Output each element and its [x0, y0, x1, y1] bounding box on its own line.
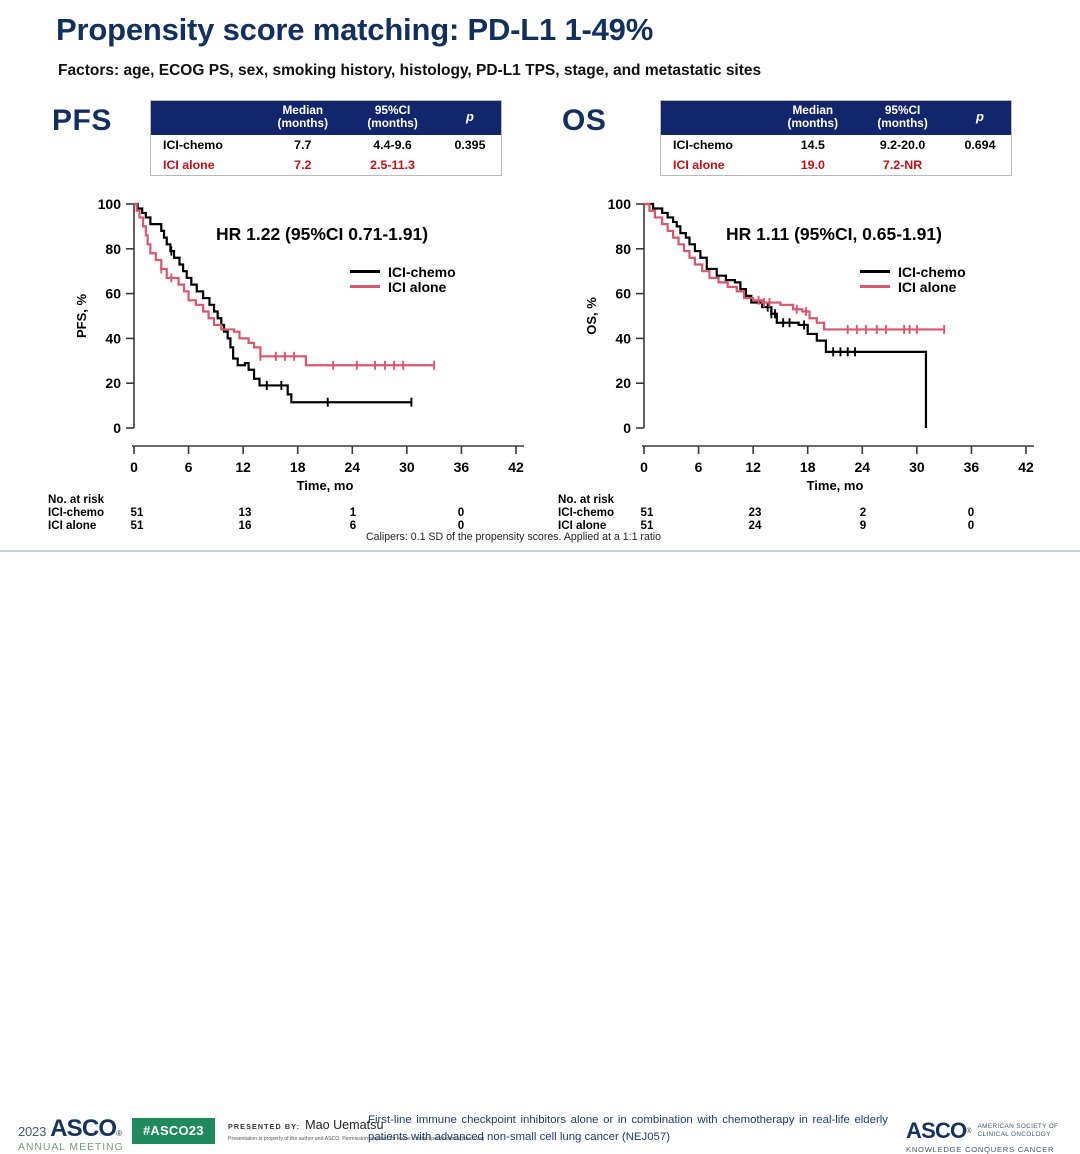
at-risk-value: 23	[742, 506, 768, 519]
panel-label-os: OS	[562, 104, 606, 138]
society-name-line2: CLINICAL ONCOLOGY	[978, 1131, 1051, 1138]
legend-swatch-icon	[860, 285, 890, 288]
cell-median: 19.0	[769, 155, 856, 175]
legend-item-chemo: ICI-chemo	[350, 264, 456, 279]
cell-median: 7.7	[259, 135, 346, 155]
hashtag-badge[interactable]: #ASCO23	[132, 1118, 215, 1144]
table-header-row: Median (months) 95%CI (months) p	[151, 101, 502, 136]
society-logo-top: ASCO ® AMERICAN SOCIETY OF CLINICAL ONCO…	[906, 1118, 1058, 1144]
at-risk-value: 13	[232, 506, 258, 519]
at-risk-value: 2	[850, 506, 876, 519]
at-risk-value: 9	[850, 519, 876, 532]
col-header-name	[151, 101, 260, 136]
cell-pvalue: 0.395	[439, 135, 502, 155]
svg-text:60: 60	[615, 286, 631, 302]
at-risk-title: No. at risk	[552, 493, 1042, 506]
row-label: ICI-chemo	[661, 135, 770, 155]
svg-text:Time, mo: Time, mo	[297, 478, 354, 492]
at-risk-value: 0	[958, 506, 984, 519]
svg-text:100: 100	[608, 196, 632, 212]
svg-text:0: 0	[130, 459, 138, 475]
asco-society-logo: ASCO ® AMERICAN SOCIETY OF CLINICAL ONCO…	[906, 1118, 1058, 1154]
svg-text:40: 40	[105, 330, 121, 346]
table-header-row: Median (months) 95%CI (months) p	[661, 101, 1012, 136]
col-header-pvalue: p	[949, 101, 1012, 136]
at-risk-value: 51	[124, 506, 150, 519]
table-row: ICI-chemo 7.7 4.4-9.6 0.395	[151, 135, 502, 155]
svg-text:18: 18	[800, 459, 816, 475]
at-risk-table-pfs: No. at risk ICI-chemo 51 13 1 0 ICI alon…	[42, 493, 532, 532]
cell-pvalue	[439, 155, 502, 175]
cell-ci: 4.4-9.6	[346, 135, 439, 155]
svg-text:100: 100	[98, 196, 122, 212]
col-header-ci: 95%CI (months)	[346, 101, 439, 136]
svg-text:30: 30	[909, 459, 925, 475]
registered-trademark-icon: ®	[116, 1129, 122, 1138]
at-risk-value: 1	[340, 506, 366, 519]
svg-text:Time, mo: Time, mo	[807, 478, 864, 492]
logo-top-line: 2023 ASCO ®	[18, 1115, 124, 1143]
row-label: ICI-chemo	[151, 135, 260, 155]
cell-ci: 7.2-NR	[856, 155, 949, 175]
svg-text:60: 60	[105, 286, 121, 302]
cell-median: 14.5	[769, 135, 856, 155]
presented-by-label: PRESENTED BY:	[228, 1122, 300, 1131]
svg-text:OS, %: OS, %	[584, 297, 599, 335]
at-risk-table-os: No. at risk ICI-chemo 51 23 2 0 ICI alon…	[552, 493, 1042, 532]
svg-text:12: 12	[745, 459, 761, 475]
logo-wordmark: ASCO	[50, 1115, 116, 1143]
row-label: ICI alone	[151, 155, 260, 175]
legend-label-alone: ICI alone	[898, 279, 956, 295]
row-label: ICI alone	[661, 155, 770, 175]
at-risk-row-chemo: ICI-chemo 51 13 1 0	[42, 506, 532, 519]
presenter-block: PRESENTED BY: Mao Uematsu Presentation i…	[228, 1118, 360, 1142]
at-risk-value: 16	[232, 519, 258, 532]
legend-swatch-icon	[350, 270, 380, 273]
table-row: ICI alone 7.2 2.5-11.3	[151, 155, 502, 175]
registered-trademark-icon: ®	[966, 1128, 971, 1135]
slide-footer: 2023 ASCO ® ANNUAL MEETING #ASCO23 PRESE…	[0, 552, 1080, 608]
svg-text:42: 42	[1018, 459, 1034, 475]
slide-subtitle: Factors: age, ECOG PS, sex, smoking hist…	[58, 62, 761, 80]
permission-note: Presentation is property of the author a…	[228, 1136, 360, 1142]
svg-text:18: 18	[290, 459, 306, 475]
svg-text:36: 36	[964, 459, 980, 475]
at-risk-label: ICI alone	[48, 519, 96, 532]
chart-legend-os: ICI-chemo ICI alone	[860, 264, 966, 294]
svg-text:PFS, %: PFS, %	[74, 294, 89, 339]
panel-os: OS Median (months) 95%CI (months) p ICI-…	[540, 96, 1040, 546]
logo-subtitle: ANNUAL MEETING	[18, 1141, 124, 1153]
society-name: AMERICAN SOCIETY OF CLINICAL ONCOLOGY	[978, 1123, 1059, 1139]
society-tagline: KNOWLEDGE CONQUERS CANCER	[906, 1145, 1058, 1154]
svg-text:0: 0	[640, 459, 648, 475]
svg-text:6: 6	[185, 459, 193, 475]
cell-median: 7.2	[259, 155, 346, 175]
at-risk-value: 6	[340, 519, 366, 532]
svg-text:0: 0	[623, 420, 631, 436]
col-header-median: Median (months)	[769, 101, 856, 136]
legend-label-alone: ICI alone	[388, 279, 446, 295]
svg-text:20: 20	[615, 375, 631, 391]
study-title: First-line immune checkpoint inhibitors …	[368, 1112, 888, 1145]
svg-text:24: 24	[854, 459, 870, 475]
svg-text:24: 24	[344, 459, 360, 475]
svg-text:80: 80	[105, 241, 121, 257]
col-header-ci: 95%CI (months)	[856, 101, 949, 136]
legend-label-chemo: ICI-chemo	[898, 264, 966, 280]
at-risk-label: ICI-chemo	[558, 506, 614, 519]
cell-pvalue: 0.694	[949, 135, 1012, 155]
legend-item-alone: ICI alone	[860, 279, 966, 294]
at-risk-label: ICI-chemo	[48, 506, 104, 519]
page-title: Propensity score matching: PD-L1 1-49%	[56, 12, 653, 48]
ci-line2: (months)	[858, 117, 947, 130]
panel-label-pfs: PFS	[52, 104, 112, 138]
ci-line2: (months)	[348, 117, 437, 130]
col-header-median: Median (months)	[259, 101, 346, 136]
at-risk-title: No. at risk	[42, 493, 532, 506]
stats-table-pfs: Median (months) 95%CI (months) p ICI-che…	[150, 100, 502, 176]
at-risk-value: 0	[958, 519, 984, 532]
legend-label-chemo: ICI-chemo	[388, 264, 456, 280]
at-risk-value: 0	[448, 506, 474, 519]
hr-annotation-pfs: HR 1.22 (95%CI 0.71-1.91)	[216, 224, 428, 245]
calipers-note: Calipers: 0.1 SD of the propensity score…	[366, 531, 661, 543]
hr-annotation-os: HR 1.11 (95%CI, 0.65-1.91)	[726, 224, 942, 245]
asco-annual-meeting-logo: 2023 ASCO ® ANNUAL MEETING	[18, 1115, 124, 1153]
logo-year: 2023	[18, 1124, 46, 1139]
chart-legend-pfs: ICI-chemo ICI alone	[350, 264, 456, 294]
svg-text:36: 36	[454, 459, 470, 475]
svg-text:42: 42	[508, 459, 524, 475]
panel-pfs: PFS Median (months) 95%CI (months) p ICI…	[30, 96, 530, 546]
legend-item-alone: ICI alone	[350, 279, 456, 294]
stats-table-os: Median (months) 95%CI (months) p ICI-che…	[660, 100, 1012, 176]
cell-pvalue	[949, 155, 1012, 175]
legend-swatch-icon	[860, 270, 890, 273]
svg-text:6: 6	[695, 459, 703, 475]
svg-text:80: 80	[615, 241, 631, 257]
society-wordmark: ASCO	[906, 1118, 966, 1144]
col-header-pvalue: p	[439, 101, 502, 136]
society-name-line1: AMERICAN SOCIETY OF	[978, 1123, 1059, 1130]
at-risk-value: 51	[634, 506, 660, 519]
median-line2: (months)	[771, 117, 854, 130]
svg-text:40: 40	[615, 330, 631, 346]
table-row: ICI alone 19.0 7.2-NR	[661, 155, 1012, 175]
table-row: ICI-chemo 14.5 9.2-20.0 0.694	[661, 135, 1012, 155]
legend-item-chemo: ICI-chemo	[860, 264, 966, 279]
svg-text:20: 20	[105, 375, 121, 391]
svg-text:0: 0	[113, 420, 121, 436]
at-risk-value: 51	[124, 519, 150, 532]
presenter-line: PRESENTED BY: Mao Uematsu	[228, 1118, 360, 1132]
col-header-name	[661, 101, 770, 136]
at-risk-row-chemo: ICI-chemo 51 23 2 0	[552, 506, 1042, 519]
svg-text:12: 12	[235, 459, 251, 475]
median-line2: (months)	[261, 117, 344, 130]
svg-text:30: 30	[399, 459, 415, 475]
cell-ci: 2.5-11.3	[346, 155, 439, 175]
at-risk-value: 24	[742, 519, 768, 532]
cell-ci: 9.2-20.0	[856, 135, 949, 155]
legend-swatch-icon	[350, 285, 380, 288]
